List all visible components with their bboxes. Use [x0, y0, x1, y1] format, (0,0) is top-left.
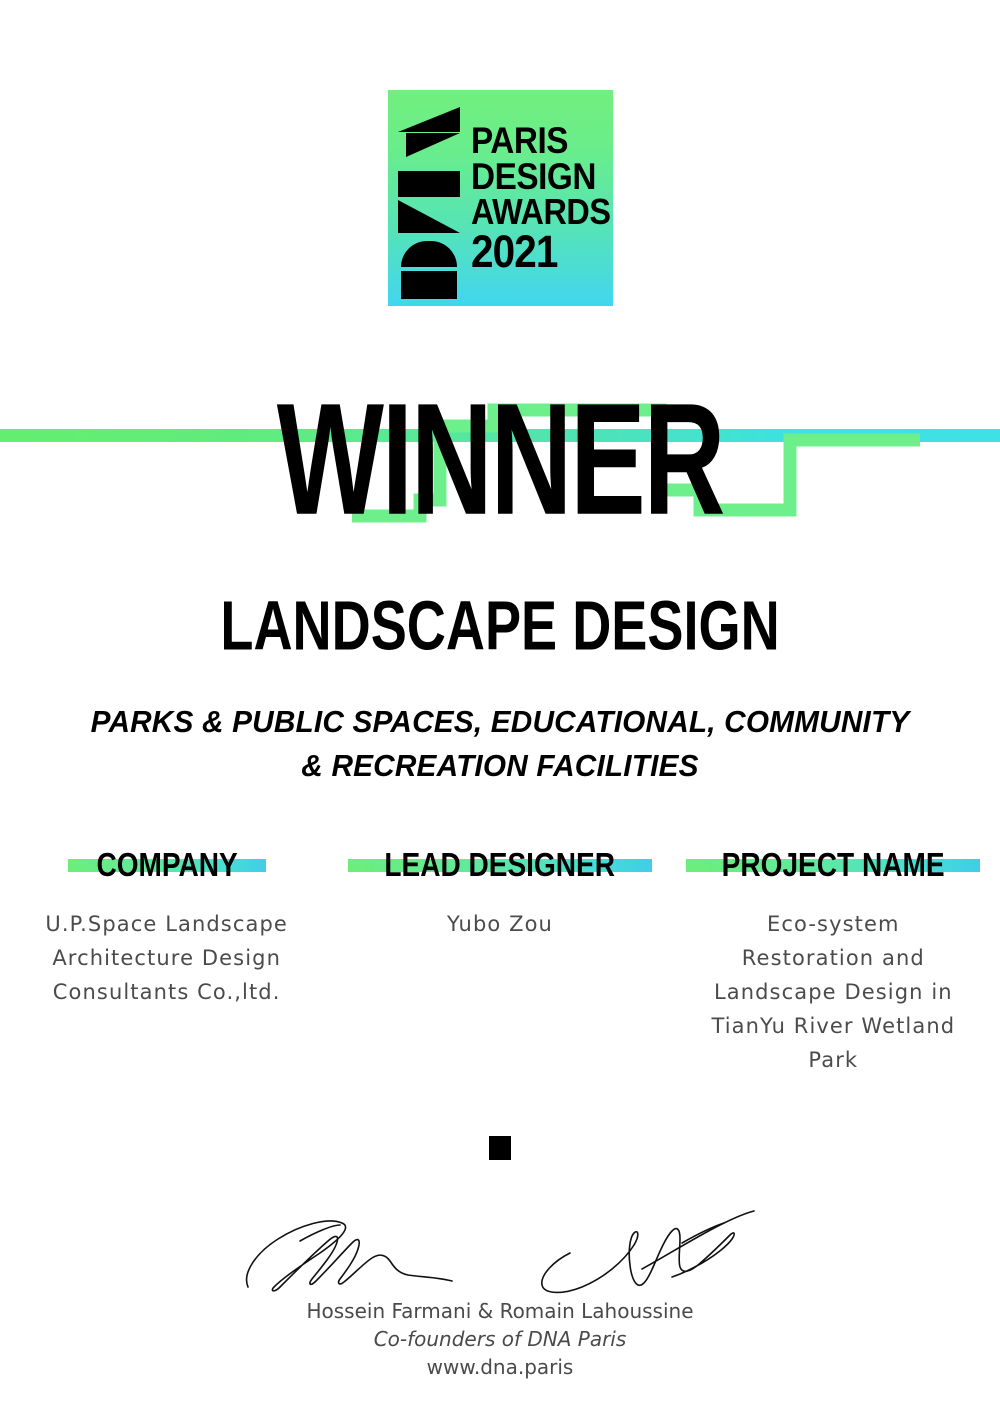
logo-line-year: 2021 [471, 230, 611, 274]
project-name-heading: PROJECT NAME [686, 845, 980, 885]
dna-letter-d-icon [398, 101, 460, 163]
credit-column-project-name: PROJECT NAME Eco-system Restoration and … [667, 845, 1000, 1077]
footer-signatories: Hossein Farmani & Romain Lahoussine [0, 1297, 1000, 1325]
award-category-label: LANDSCAPE DESIGN [220, 590, 779, 660]
award-category: LANDSCAPE DESIGN [0, 592, 1000, 658]
company-heading: COMPANY [68, 845, 266, 885]
company-heading-label: COMPANY [96, 845, 237, 885]
footer-role: Co-founders of DNA Paris [0, 1325, 1000, 1353]
project-name-value: Eco-system Restoration and Landscape Des… [668, 907, 998, 1077]
credits-columns: COMPANY U.P.Space Landscape Architecture… [0, 845, 1000, 1077]
dna-letter-n-icon [398, 171, 460, 233]
credit-column-lead-designer: LEAD DESIGNER Yubo Zou [333, 845, 666, 1077]
dna-letter-a-icon [398, 241, 460, 299]
winner-banner: WINNER [0, 380, 1000, 540]
footer-credits: Hossein Farmani & Romain Lahoussine Co-f… [0, 1297, 1000, 1381]
dna-paris-design-awards-badge: PARIS DESIGN AWARDS 2021 [388, 90, 613, 306]
signature-hossein-farmani-icon [240, 1195, 470, 1300]
award-subcategory-label: PARKS & PUBLIC SPACES, EDUCATIONAL, COMM… [78, 700, 923, 788]
company-value: U.P.Space Landscape Architecture Design … [2, 907, 332, 1009]
black-square-mark-icon [489, 1136, 511, 1160]
lead-designer-heading-label: LEAD DESIGNER [385, 845, 616, 885]
logo-line-design: DESIGN [471, 159, 611, 195]
credit-column-company: COMPANY U.P.Space Landscape Architecture… [0, 845, 333, 1077]
dna-monogram-icon [398, 99, 462, 297]
award-subcategory: PARKS & PUBLIC SPACES, EDUCATIONAL, COMM… [60, 700, 940, 788]
lead-designer-heading: LEAD DESIGNER [348, 845, 651, 885]
winner-label: WINNER [277, 380, 723, 539]
signatures-row [0, 1195, 1000, 1300]
award-logo-block: PARIS DESIGN AWARDS 2021 [0, 90, 1000, 306]
project-name-heading-label: PROJECT NAME [722, 845, 945, 885]
logo-line-awards: AWARDS [471, 195, 611, 230]
logo-line-paris: PARIS [471, 123, 611, 159]
logo-wordmark: PARIS DESIGN AWARDS 2021 [462, 123, 626, 273]
winner-text: WINNER [0, 380, 1000, 540]
lead-designer-value: Yubo Zou [350, 907, 650, 941]
signature-romain-lahoussine-icon [530, 1195, 760, 1300]
footer-website[interactable]: www.dna.paris [0, 1353, 1000, 1381]
